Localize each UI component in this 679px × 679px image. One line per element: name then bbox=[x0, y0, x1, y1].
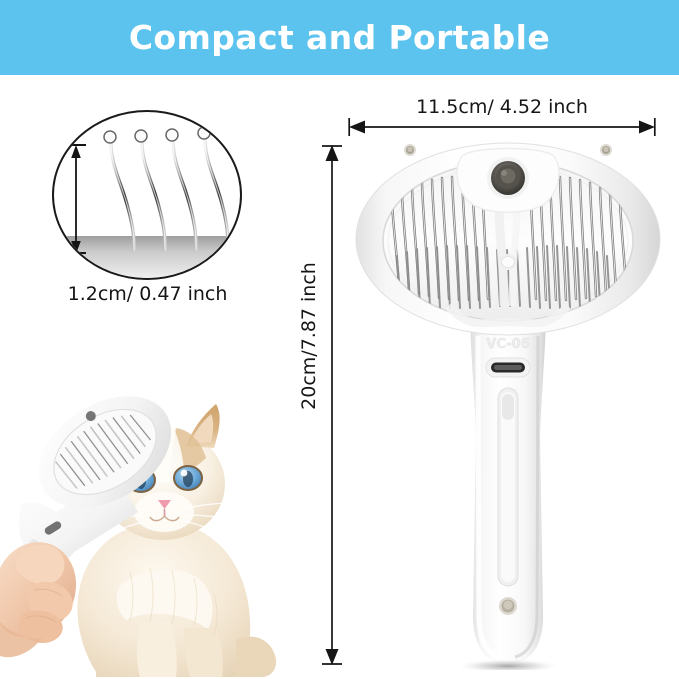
handle-screw bbox=[499, 597, 517, 615]
center-button[interactable] bbox=[487, 157, 529, 199]
product-infographic-page: Compact and Portable bbox=[0, 0, 679, 679]
callout-circle bbox=[52, 110, 242, 280]
cat-eye-right bbox=[174, 466, 202, 490]
page-title: Compact and Portable bbox=[0, 0, 679, 75]
arrow-up-icon bbox=[326, 145, 339, 161]
width-dimension-label: 11.5cm/ 4.52 inch bbox=[349, 96, 655, 118]
hand-holding-brush bbox=[0, 542, 76, 657]
bristle-closeup-callout bbox=[52, 110, 242, 280]
height-dimension-label: 20cm/7.87 inch bbox=[298, 246, 320, 426]
product-brush-photo: VC-06 bbox=[352, 136, 664, 670]
model-embossed-text: VC-06 bbox=[486, 337, 529, 352]
height-dimension-arrow bbox=[320, 140, 344, 670]
head-screw bbox=[600, 144, 612, 156]
usb-c-port bbox=[486, 358, 530, 377]
product-shadow bbox=[456, 659, 560, 670]
bristle-pin bbox=[198, 127, 228, 250]
bristle-height-arrow bbox=[66, 145, 86, 254]
bristle-diagram-svg bbox=[54, 112, 242, 280]
pad-vent-hole bbox=[499, 254, 517, 270]
arrow-down-icon bbox=[326, 649, 339, 665]
arrow-up-icon bbox=[71, 145, 81, 158]
head-screw bbox=[404, 144, 416, 156]
bristle-pin bbox=[135, 130, 165, 250]
arrow-right-icon bbox=[639, 121, 655, 134]
bristle-dimension-caption: 1.2cm/ 0.47 inch bbox=[40, 283, 255, 305]
bristle-pin bbox=[166, 129, 196, 250]
arrow-left-icon bbox=[349, 121, 365, 134]
width-dimension-arrow bbox=[346, 116, 658, 138]
lifestyle-cat-photo bbox=[0, 372, 290, 679]
slider-slot[interactable] bbox=[498, 388, 518, 586]
bristle-pin bbox=[104, 131, 134, 250]
header-banner: Compact and Portable bbox=[0, 0, 679, 75]
